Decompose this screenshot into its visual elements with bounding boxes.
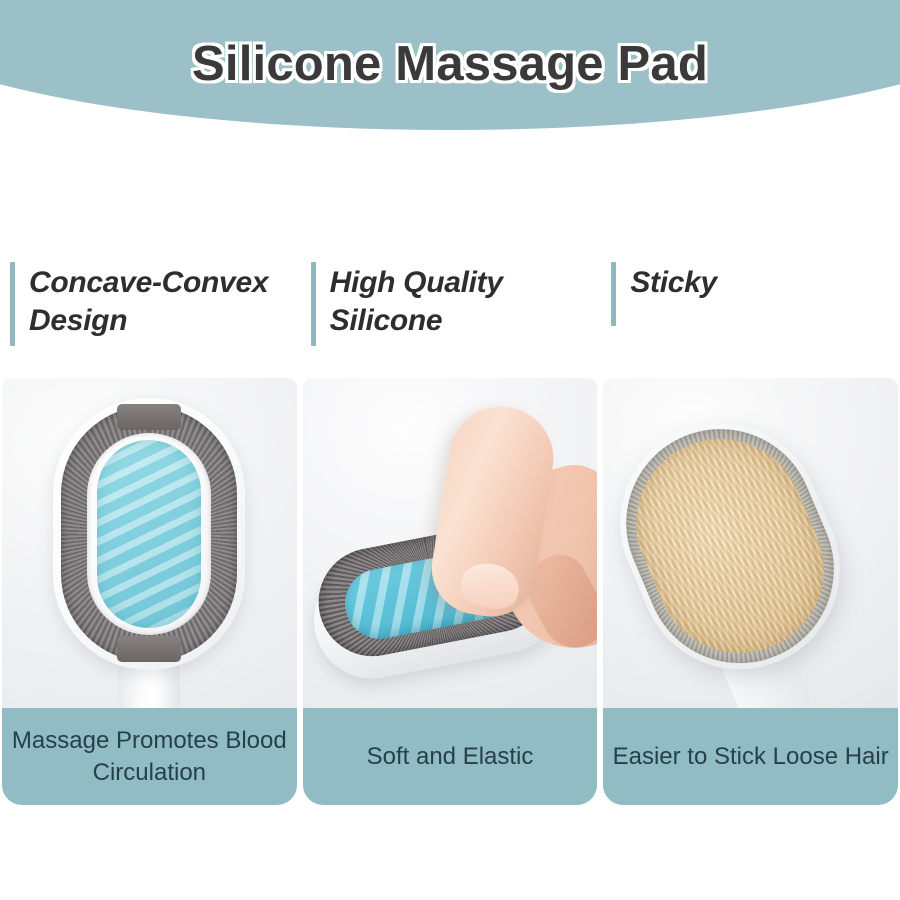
silicone-massage-pad — [97, 440, 201, 628]
feature-image-3 — [603, 378, 898, 708]
feature-column-sticky: Sticky Easier to Stick Loose Hair — [603, 262, 898, 822]
feature-heading-3: Sticky — [603, 262, 898, 378]
feature-columns: Concave-Convex Design Massage Promotes B… — [0, 262, 900, 822]
product-photo-concave-convex — [2, 378, 297, 708]
feature-heading-1: Concave-Convex Design — [2, 262, 297, 378]
feature-heading-label: Concave-Convex Design — [29, 262, 297, 339]
feature-caption-3: Easier to Stick Loose Hair — [603, 708, 898, 805]
brush-clip-bottom — [117, 636, 181, 662]
feature-column-concave-convex-design: Concave-Convex Design Massage Promotes B… — [2, 262, 297, 822]
header-banner: Silicone Massage Pad — [0, 0, 900, 150]
feature-heading-label: High Quality Silicone — [330, 262, 598, 339]
product-photo-finger-press — [303, 378, 598, 708]
feature-caption-2: Soft and Elastic — [303, 708, 598, 805]
product-photo-collected-hair — [603, 378, 898, 708]
heading-accent-bar — [311, 262, 316, 346]
heading-accent-bar — [10, 262, 15, 346]
feature-image-1 — [2, 378, 297, 708]
feature-caption-1: Massage Promotes Blood Circulation — [2, 708, 297, 805]
brush-clip-top — [117, 404, 181, 430]
feature-column-high-quality-silicone: High Quality Silicone Soft and Elastic — [303, 262, 598, 822]
feature-image-2 — [303, 378, 598, 708]
page-title: Silicone Massage Pad — [0, 40, 900, 89]
heading-accent-bar — [611, 262, 616, 326]
feature-heading-2: High Quality Silicone — [303, 262, 598, 378]
feature-heading-label: Sticky — [630, 262, 717, 302]
